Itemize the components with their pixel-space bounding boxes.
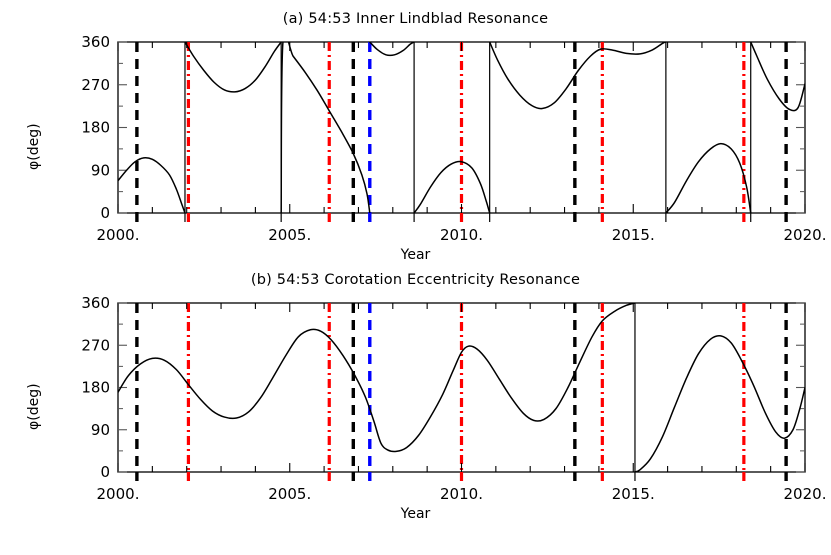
y-tick-label: 360 [81,294,110,312]
x-tick-label: 2005. [268,485,311,503]
x-tick-label: 2015. [612,485,655,503]
x-tick-label: 2020. [784,485,827,503]
x-tick-label: 2000. [97,485,140,503]
vertical-marker-lines [137,303,786,472]
y-tick-label: 180 [81,379,110,397]
curve-segment-1 [635,336,805,472]
x-tick-label: 2010. [440,485,483,503]
y-tick-label: 0 [100,463,110,481]
curve-segment-0 [118,303,635,451]
panel-b-plot-area: 0901802703602000.2005.2010.2015.2020. [0,0,831,555]
y-tick-label: 270 [81,336,110,354]
y-tick-label: 90 [91,421,110,439]
